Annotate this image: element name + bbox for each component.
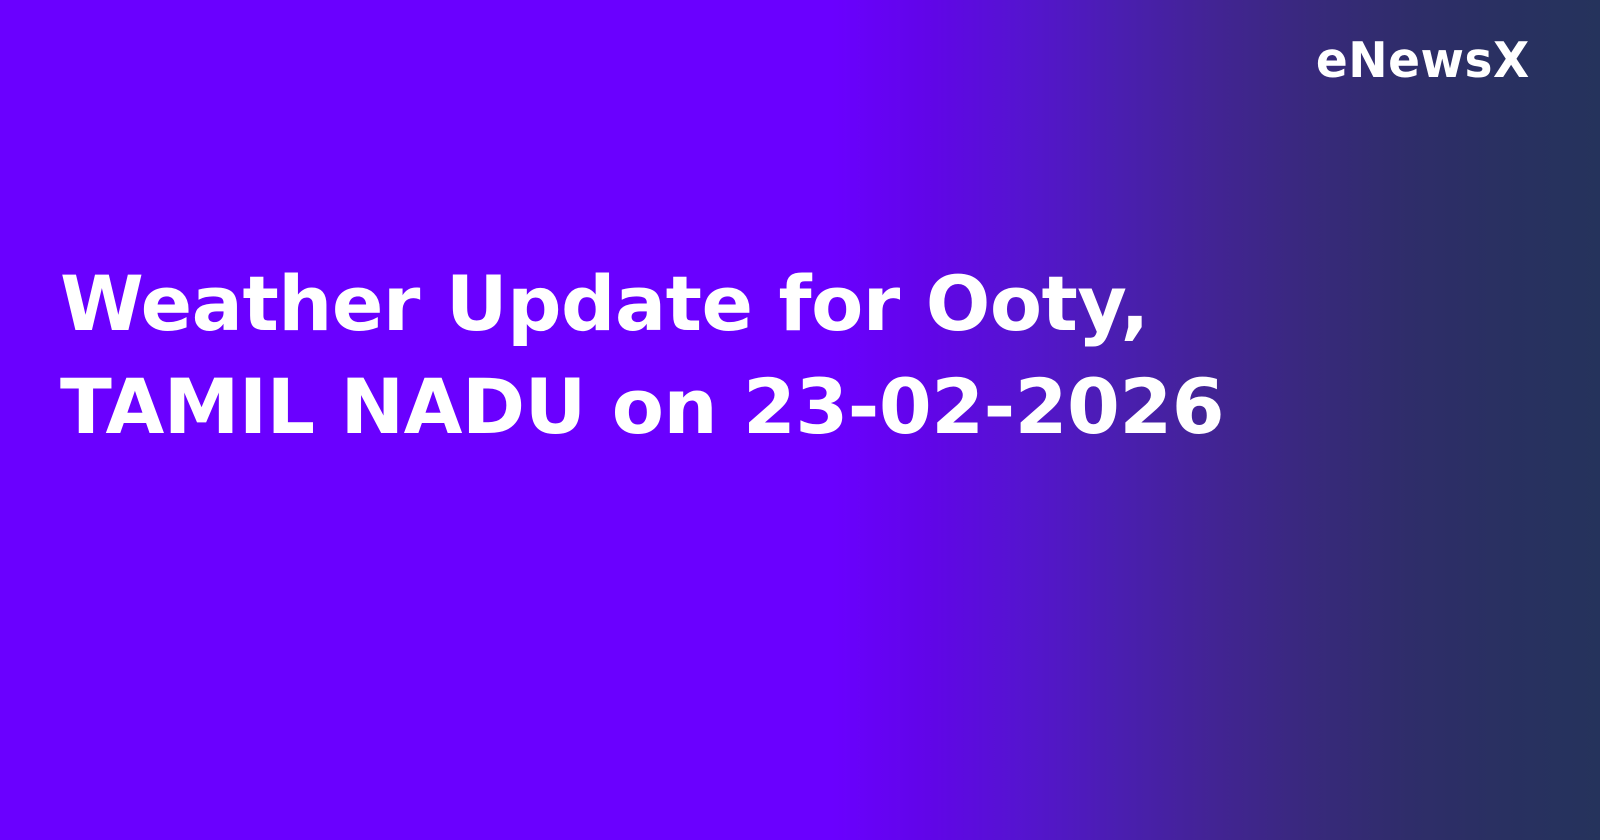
headline-block: Weather Update for Ooty, TAMIL NADU on 2… [60, 252, 1480, 459]
page-title: Weather Update for Ooty, TAMIL NADU on 2… [60, 252, 1300, 459]
enewsx-logo[interactable]: eNewsX [1316, 36, 1530, 85]
weather-update-banner: eNewsX Weather Update for Ooty, TAMIL NA… [0, 0, 1600, 840]
